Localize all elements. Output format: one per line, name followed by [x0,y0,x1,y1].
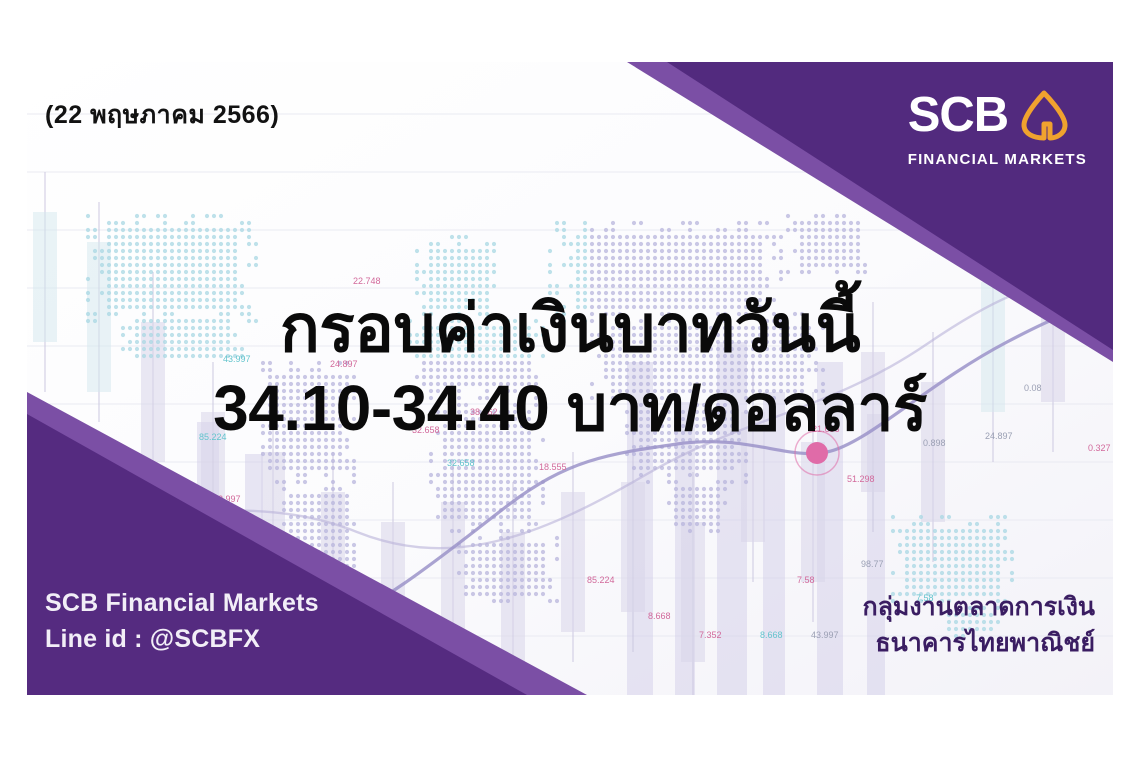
map-dot [198,235,202,239]
map-dot [919,550,923,554]
map-dot [842,235,846,239]
map-dot [478,445,482,449]
map-dot [590,242,594,246]
map-dot [422,270,426,274]
map-dot [296,543,300,547]
map-dot [919,564,923,568]
map-dot [310,494,314,498]
map-dot [702,494,706,498]
map-dot [457,270,461,274]
map-dot [457,284,461,288]
map-dot [296,508,300,512]
map-dot [86,214,90,218]
map-dot [163,256,167,260]
map-dot [331,487,335,491]
map-dot [730,263,734,267]
map-dot [695,515,699,519]
map-dot [450,508,454,512]
map-dot [660,459,664,463]
map-dot [912,536,916,540]
map-dot [478,501,482,505]
map-dot [534,522,538,526]
map-dot [828,235,832,239]
map-dot [702,466,706,470]
map-dot [527,466,531,470]
map-dot [793,228,797,232]
map-dot [275,452,279,456]
map-dot [492,494,496,498]
map-dot [597,249,601,253]
map-dot [583,235,587,239]
map-dot [156,256,160,260]
map-dot [758,235,762,239]
map-dot [758,221,762,225]
map-dot [121,263,125,267]
map-dot [793,249,797,253]
map-dot [520,543,524,547]
map-dot [317,445,321,449]
map-dot [835,235,839,239]
map-dot [226,270,230,274]
map-dot [163,242,167,246]
map-dot [989,529,993,533]
map-dot [751,270,755,274]
map-dot [352,522,356,526]
map-dot [128,228,132,232]
map-dot [478,578,482,582]
map-dot [926,536,930,540]
map-dot [604,249,608,253]
map-dot [492,585,496,589]
map-dot [121,221,125,225]
map-dot [282,501,286,505]
map-dot [576,284,580,288]
map-dot [688,459,692,463]
map-dot [247,242,251,246]
map-dot [765,221,769,225]
map-dot [464,515,468,519]
map-dot [618,242,622,246]
map-dot [716,494,720,498]
map-dot [674,487,678,491]
map-dot [723,270,727,274]
map-dot [849,221,853,225]
map-dot [968,564,972,568]
map-dot [478,256,482,260]
map-dot [996,550,1000,554]
map-dot [695,501,699,505]
map-dot [940,578,944,582]
map-dot [905,578,909,582]
map-dot [744,473,748,477]
map-dot [576,277,580,281]
map-dot [975,564,979,568]
map-dot [275,445,279,449]
map-dot [681,256,685,260]
map-dot [597,270,601,274]
map-dot [506,550,510,554]
map-dot [674,466,678,470]
map-dot [541,585,545,589]
map-dot [835,214,839,218]
map-dot [443,508,447,512]
map-dot [548,263,552,267]
map-dot [478,270,482,274]
map-dot [443,249,447,253]
map-dot [639,249,643,253]
map-dot [499,592,503,596]
map-dot [702,235,706,239]
chart-value-label: 25.886 [65,450,93,460]
map-dot [527,508,531,512]
map-dot [338,550,342,554]
map-dot [968,578,972,582]
map-dot [296,557,300,561]
map-dot [786,214,790,218]
map-dot [198,242,202,246]
map-dot [303,550,307,554]
map-dot [828,228,832,232]
map-dot [464,473,468,477]
map-dot [506,599,510,603]
map-dot [744,480,748,484]
map-dot [513,571,517,575]
map-dot [527,459,531,463]
map-dot [912,529,916,533]
map-dot [548,578,552,582]
map-dot [520,578,524,582]
map-dot [352,557,356,561]
map-dot [296,522,300,526]
map-dot [527,550,531,554]
map-dot [954,529,958,533]
map-dot [471,557,475,561]
map-dot [240,228,244,232]
map-dot [800,221,804,225]
map-dot [919,543,923,547]
map-dot [723,445,727,449]
map-dot [170,277,174,281]
map-dot [1003,529,1007,533]
map-dot [268,466,272,470]
map-dot [142,242,146,246]
map-dot [1010,557,1014,561]
map-dot [275,480,279,484]
map-dot [485,473,489,477]
map-dot [352,543,356,547]
map-dot [338,508,342,512]
map-dot [478,557,482,561]
map-dot [912,578,916,582]
map-dot [303,578,307,582]
map-dot [716,522,720,526]
map-dot [618,263,622,267]
map-dot [128,242,132,246]
map-dot [975,536,979,540]
map-dot [289,459,293,463]
map-dot [709,284,713,288]
map-dot [142,284,146,288]
chart-value-label: 8.668 [648,611,671,621]
map-dot [604,228,608,232]
map-dot [898,529,902,533]
map-dot [597,277,601,281]
map-dot [639,284,643,288]
map-dot [835,221,839,225]
map-dot [681,270,685,274]
map-dot [989,564,993,568]
map-dot [807,263,811,267]
map-dot [891,529,895,533]
map-dot [338,515,342,519]
map-dot [688,522,692,526]
map-dot [730,277,734,281]
map-dot [492,284,496,288]
map-dot [233,228,237,232]
map-dot [716,452,720,456]
map-dot [240,221,244,225]
map-dot [289,501,293,505]
map-dot [653,270,657,274]
map-dot [653,284,657,288]
map-dot [184,249,188,253]
map-dot [737,459,741,463]
map-dot [303,445,307,449]
map-dot [968,550,972,554]
map-dot [345,557,349,561]
map-dot [219,270,223,274]
map-dot [716,480,720,484]
map-dot [835,242,839,246]
map-dot [296,564,300,568]
chart-value-label: 0.327 [1088,443,1111,453]
map-dot [464,501,468,505]
map-dot [856,221,860,225]
map-dot [282,452,286,456]
map-dot [464,494,468,498]
map-dot [191,235,195,239]
map-dot [996,578,1000,582]
map-dot [590,284,594,288]
map-dot [121,235,125,239]
map-dot [919,557,923,561]
map-dot [247,263,251,267]
map-dot [149,242,153,246]
map-dot [681,221,685,225]
map-dot [443,263,447,267]
map-dot [212,270,216,274]
map-dot [961,564,965,568]
map-dot [744,235,748,239]
map-dot [688,256,692,260]
map-dot [982,571,986,575]
map-dot [184,242,188,246]
map-dot [450,235,454,239]
map-dot [471,284,475,288]
map-dot [198,256,202,260]
map-dot [660,270,664,274]
map-dot [744,452,748,456]
map-dot [485,459,489,463]
map-dot [646,466,650,470]
map-dot [499,452,503,456]
map-dot [478,508,482,512]
map-dot [492,263,496,267]
map-dot [940,557,944,561]
map-dot [716,459,720,463]
map-dot [345,522,349,526]
map-dot [289,536,293,540]
map-dot [597,256,601,260]
map-dot [723,466,727,470]
brand-contact-block: SCB Financial Markets Line id : @SCBFX [45,586,319,657]
map-dot [954,557,958,561]
map-dot [464,235,468,239]
map-dot [450,473,454,477]
map-dot [737,242,741,246]
map-dot [506,452,510,456]
map-dot [744,228,748,232]
map-dot [289,445,293,449]
map-dot [478,487,482,491]
map-dot [765,235,769,239]
map-dot [219,263,223,267]
map-dot [513,452,517,456]
map-dot [695,522,699,526]
map-dot [975,571,979,575]
map-dot [905,529,909,533]
map-dot [324,487,328,491]
map-dot [177,249,181,253]
map-dot [485,585,489,589]
map-dot [709,256,713,260]
map-dot [835,256,839,260]
map-dot [163,270,167,274]
map-dot [541,550,545,554]
map-dot [618,277,622,281]
map-dot [737,235,741,239]
map-dot [744,263,748,267]
poster-canvas: 22.74843.99724.89738.96232.65885.22432.6… [0,0,1140,760]
map-dot [429,473,433,477]
map-dot [93,256,97,260]
map-dot [828,256,832,260]
map-dot [429,277,433,281]
map-dot [632,277,636,281]
map-dot [695,235,699,239]
map-dot [331,452,335,456]
map-dot [107,284,111,288]
map-dot [674,522,678,526]
bank-name: ธนาคารไทยพาณิชย์ [862,625,1095,661]
map-dot [114,242,118,246]
map-dot [842,249,846,253]
map-dot [625,263,629,267]
map-dot [485,487,489,491]
map-dot [709,277,713,281]
map-dot [632,249,636,253]
map-dot [289,522,293,526]
map-dot [527,445,531,449]
map-dot [947,536,951,540]
map-dot [520,445,524,449]
map-dot [317,522,321,526]
map-dot [478,277,482,281]
map-dot [688,242,692,246]
map-dot [471,508,475,512]
map-dot [513,543,517,547]
map-dot [807,256,811,260]
map-dot [632,221,636,225]
chart-value-label: 85.224 [587,575,615,585]
map-dot [912,522,916,526]
map-dot [996,529,1000,533]
map-dot [485,263,489,267]
map-dot [849,249,853,253]
map-dot [324,501,328,505]
map-dot [926,522,930,526]
map-dot [107,270,111,274]
map-dot [506,508,510,512]
map-dot [114,221,118,225]
map-dot [184,235,188,239]
map-dot [681,277,685,281]
map-dot [688,494,692,498]
map-dot [443,480,447,484]
map-dot [723,242,727,246]
map-dot [611,242,615,246]
map-dot [191,242,195,246]
map-dot [681,242,685,246]
map-dot [968,557,972,561]
map-dot [1003,550,1007,554]
map-dot [100,249,104,253]
map-dot [135,228,139,232]
map-dot [807,221,811,225]
map-dot [247,228,251,232]
map-dot [429,480,433,484]
map-dot [149,228,153,232]
map-dot [471,270,475,274]
map-dot [646,256,650,260]
map-dot [338,536,342,540]
map-dot [835,249,839,253]
map-dot [716,487,720,491]
map-dot [730,445,734,449]
map-dot [744,242,748,246]
map-dot [933,536,937,540]
map-dot [688,263,692,267]
map-dot [716,263,720,267]
map-dot [170,256,174,260]
map-dot [499,522,503,526]
map-dot [779,235,783,239]
map-dot [296,494,300,498]
map-dot [646,270,650,274]
map-dot [779,277,783,281]
map-dot [947,557,951,561]
map-dot [681,508,685,512]
map-dot [492,480,496,484]
poster-card: 22.74843.99724.89738.96232.65885.22432.6… [27,62,1113,695]
map-dot [247,235,251,239]
map-dot [681,235,685,239]
map-dot [961,529,965,533]
map-dot [191,249,195,253]
map-dot [429,284,433,288]
map-dot [443,277,447,281]
map-dot [632,452,636,456]
